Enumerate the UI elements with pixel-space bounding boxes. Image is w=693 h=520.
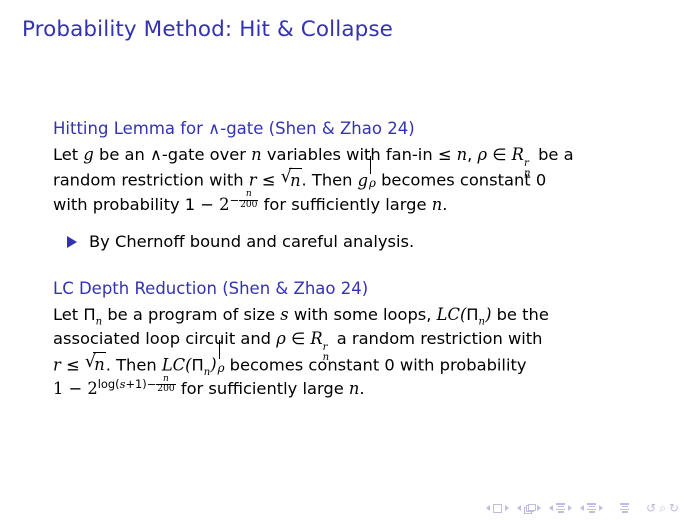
text-run: associated loop circuit and bbox=[53, 329, 276, 348]
back-icon[interactable]: ↺ bbox=[646, 502, 656, 514]
text-run: be a bbox=[533, 145, 574, 164]
block-body-line-3: r ≤ n. Then LC(Πn)ρ becomes constant 0 w… bbox=[53, 352, 643, 378]
list-item: By Chernoff bound and careful analysis. bbox=[53, 230, 643, 254]
math-in-symbol: ∈ bbox=[291, 329, 305, 348]
math-var-pi: Π bbox=[192, 355, 204, 374]
text-run: , bbox=[467, 145, 477, 164]
bullet-list: By Chernoff bound and careful analysis. bbox=[53, 230, 643, 254]
math-restriction: gρ bbox=[358, 169, 376, 193]
text-run: becomes constant 0 with probability bbox=[224, 355, 526, 374]
block-lc-depth-reduction: LC Depth Reduction (Shen & Zhao 24) Let … bbox=[53, 278, 643, 401]
block-spacer bbox=[53, 254, 643, 278]
math-subscript-rho: ρ bbox=[369, 171, 376, 195]
previous-section-icon[interactable] bbox=[580, 505, 584, 511]
math-var-s: s bbox=[280, 305, 288, 324]
previous-slide-icon[interactable] bbox=[549, 505, 553, 511]
math-calligraphic-R: R bbox=[512, 145, 524, 164]
text-run: for sufficiently large bbox=[258, 195, 431, 214]
math-var-n: n bbox=[457, 145, 468, 164]
math-exponent-sign: − bbox=[230, 193, 240, 207]
math-fraction: n200 bbox=[239, 190, 258, 210]
math-var-r: r bbox=[53, 355, 61, 374]
math-log-operator: log( bbox=[98, 377, 120, 391]
math-subscript-n: n bbox=[323, 346, 330, 370]
block-hitting-lemma: Hitting Lemma for ∧-gate (Shen & Zhao 24… bbox=[53, 118, 643, 217]
text-run: for sufficiently large bbox=[176, 379, 349, 398]
triangle-bullet-icon bbox=[67, 236, 77, 248]
text-run: +1) bbox=[125, 377, 146, 391]
math-minus-symbol: − bbox=[69, 379, 83, 398]
beamer-navigation-bar[interactable]: ↺ ⌕ ↻ bbox=[486, 502, 679, 514]
block-title: Hitting Lemma for ∧-gate (Shen & Zhao 24… bbox=[53, 118, 643, 140]
math-denominator: 200 bbox=[156, 385, 175, 394]
text-run: Let bbox=[53, 305, 83, 324]
subsection-lines-icon[interactable] bbox=[556, 503, 565, 512]
text-run: ) bbox=[210, 355, 216, 374]
slide: Probability Method: Hit & Collapse Hitti… bbox=[0, 0, 693, 520]
nav-group-slide-next[interactable] bbox=[580, 503, 603, 512]
math-base-2: 2 bbox=[219, 195, 229, 214]
nav-group-subsection[interactable] bbox=[517, 504, 541, 513]
text-run: with some loops, bbox=[289, 305, 437, 324]
text-run: becomes constant 0 bbox=[376, 171, 546, 190]
text-run: . Then bbox=[106, 355, 162, 374]
text-run: variables with fan-in bbox=[262, 145, 438, 164]
text-run: be the bbox=[491, 305, 548, 324]
math-var-pi: Π bbox=[83, 305, 95, 324]
math-leq-symbol: ≤ bbox=[66, 355, 80, 374]
math-var-g: g bbox=[358, 171, 368, 190]
math-var-g: g bbox=[83, 145, 93, 164]
math-denominator: 200 bbox=[239, 201, 258, 210]
text-run: a random restriction with bbox=[332, 329, 543, 348]
math-minus-symbol: − bbox=[147, 377, 157, 391]
section-lines-icon[interactable] bbox=[587, 503, 596, 512]
math-var-rho: ρ bbox=[478, 145, 488, 164]
text-run: . bbox=[442, 195, 447, 214]
block-body: Let Πn be a program of size s with some … bbox=[53, 303, 643, 401]
list-item-label: By Chernoff bound and careful analysis. bbox=[89, 230, 414, 254]
nav-group-frame[interactable] bbox=[486, 504, 509, 513]
text-run: Let bbox=[53, 145, 83, 164]
block-body-line-4: 1 − 2log(s+1)−n200 for sufficiently larg… bbox=[53, 377, 643, 401]
last-frame-icon[interactable] bbox=[505, 505, 509, 511]
text-run: random restriction with bbox=[53, 171, 249, 190]
document-lines-icon[interactable] bbox=[620, 503, 629, 512]
math-var-pi: Π bbox=[466, 305, 478, 324]
math-base-2: 2 bbox=[87, 379, 97, 398]
text-run: be a program of size bbox=[102, 305, 280, 324]
math-fraction: n200 bbox=[156, 375, 175, 395]
block-title: LC Depth Reduction (Shen & Zhao 24) bbox=[53, 278, 643, 300]
math-sqrt: n bbox=[85, 352, 106, 378]
math-sqrt-radicand: n bbox=[289, 168, 301, 193]
text-run: . Then bbox=[302, 171, 358, 190]
math-minus-symbol: − bbox=[200, 195, 214, 214]
math-var-rho: ρ bbox=[276, 329, 286, 348]
math-subscript-n: n bbox=[524, 162, 531, 186]
next-slide-icon[interactable] bbox=[568, 505, 572, 511]
slide-title: Probability Method: Hit & Collapse bbox=[22, 17, 393, 42]
math-var-n: n bbox=[349, 379, 360, 398]
math-var-n: n bbox=[251, 145, 262, 164]
math-var-r: r bbox=[249, 171, 257, 190]
nav-group-document[interactable] bbox=[620, 503, 629, 512]
first-frame-icon[interactable] bbox=[486, 505, 490, 511]
block-body-line-2: associated loop circuit and ρ ∈ Rrn a ra… bbox=[53, 327, 643, 351]
previous-frame-icon[interactable] bbox=[517, 505, 521, 511]
math-numerator: n bbox=[239, 190, 258, 200]
text-run: . bbox=[359, 379, 364, 398]
math-sqrt-radicand: n bbox=[93, 352, 105, 377]
frame-square-icon[interactable] bbox=[493, 504, 502, 513]
math-leq-symbol: ≤ bbox=[262, 171, 276, 190]
text-run: be an bbox=[94, 145, 150, 164]
math-leq-symbol: ≤ bbox=[438, 145, 452, 164]
forward-icon[interactable]: ↻ bbox=[669, 502, 679, 514]
math-exponent: −n200 bbox=[230, 193, 259, 207]
next-section-icon[interactable] bbox=[599, 505, 603, 511]
math-var-n: n bbox=[432, 195, 443, 214]
math-in-symbol: ∈ bbox=[492, 145, 506, 164]
slide-content: Hitting Lemma for ∧-gate (Shen & Zhao 24… bbox=[53, 118, 643, 401]
math-wedge-symbol: ∧ bbox=[150, 145, 162, 164]
block-body-line-1: Let g be an ∧-gate over n variables with… bbox=[53, 143, 643, 167]
text-run: with probability 1 bbox=[53, 195, 200, 214]
math-restriction: )ρ bbox=[210, 353, 224, 377]
nav-group-slide-prev[interactable] bbox=[549, 503, 572, 512]
next-frame-icon[interactable] bbox=[537, 505, 541, 511]
math-lc-operator: LC bbox=[437, 305, 460, 324]
block-body: Let g be an ∧-gate over n variables with… bbox=[53, 143, 643, 217]
frame-stack-icon[interactable] bbox=[524, 504, 534, 513]
block-body-line-2: random restriction with r ≤ n. Then gρ b… bbox=[53, 167, 643, 193]
math-calligraphic-R: R bbox=[310, 329, 322, 348]
math-exponent: log(s+1)−n200 bbox=[98, 377, 176, 391]
math-lc-operator: LC bbox=[162, 355, 185, 374]
text-run: -gate over bbox=[162, 145, 251, 164]
math-subscript-rho: ρ bbox=[218, 356, 225, 380]
search-icon[interactable]: ⌕ bbox=[659, 502, 666, 514]
block-body-line-1: Let Πn be a program of size s with some … bbox=[53, 303, 643, 327]
math-sqrt: n bbox=[281, 167, 302, 193]
block-body-line-3: with probability 1 − 2−n200 for sufficie… bbox=[53, 193, 643, 217]
text-run: 1 bbox=[53, 379, 69, 398]
